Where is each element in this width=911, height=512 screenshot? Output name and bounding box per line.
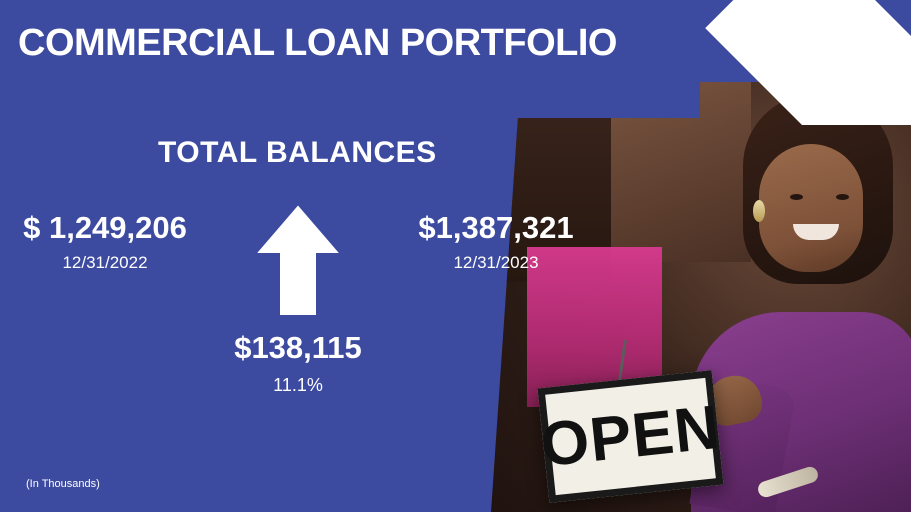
stat-current-date: 12/31/2023 [398,253,594,273]
stat-prior-value: $ 1,249,206 [0,212,210,245]
up-arrow-icon [253,200,343,320]
section-subtitle: TOTAL BALANCES [158,136,437,170]
page-title: COMMERCIAL LOAN PORTFOLIO [18,22,617,65]
stat-change-percent: 11.1% [198,375,398,396]
stat-prior-year: $ 1,249,206 12/31/2022 [0,212,210,273]
stat-current-year: $1,387,321 12/31/2023 [398,212,594,273]
stat-current-value: $1,387,321 [398,212,594,245]
slide-content: COMMERCIAL LOAN PORTFOLIO TOTAL BALANCES… [0,0,911,512]
stat-change: $138,115 11.1% [198,330,398,396]
footnote: (In Thousands) [26,478,100,490]
stat-change-value: $138,115 [198,330,398,366]
stat-prior-date: 12/31/2022 [0,253,210,273]
slide-canvas: OPEN COMMERCIAL LOAN PORTFOLIO TOTAL BAL… [0,0,911,512]
